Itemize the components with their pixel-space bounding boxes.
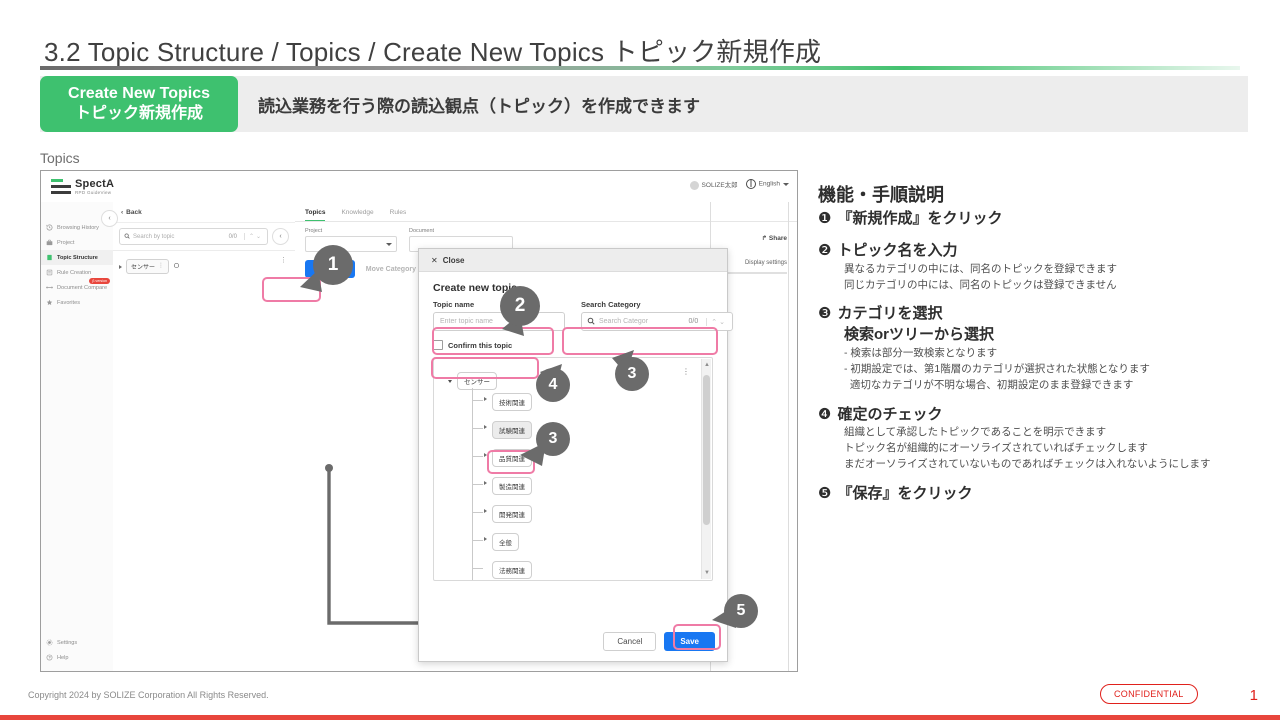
step-number: ❺ [818,485,831,503]
section-subtitle: 読込業務を行う際の読込観点（トピック）を作成できます [258,76,700,132]
category-tree-menu-icon[interactable]: ⋮ [682,370,690,375]
step-number: ❷ [818,242,831,260]
search-category-field-group: Search Category Search Categor 0/0 ⌃⌄ [581,300,733,331]
page-number: 1 [1250,687,1258,704]
topic-name-field-group: Topic name Enter topic name [433,300,565,331]
title-divider [40,66,1240,70]
instructions-heading: 機能・手順説明 [818,182,1258,208]
step-heading: カテゴリを選択 [837,305,942,324]
category-node-6[interactable]: 法務関連 [492,561,532,579]
close-icon: ✕ [431,256,438,265]
page-title: 3.2 Topic Structure / Topics / Create Ne… [44,32,821,69]
callout-3b: 3 [536,422,570,456]
screenshot-caption: Topics [40,150,80,166]
callout-2: 2 [500,286,540,326]
section-badge-line2: トピック新規作成 [75,104,203,124]
confidential-badge: CONFIDENTIAL [1100,684,1198,704]
chevron-down-icon[interactable] [448,380,452,383]
category-node-4[interactable]: 開発関連 [492,505,532,523]
step-heading: トピック名を入力 [837,242,957,261]
section-badge: Create New Topics トピック新規作成 [40,76,238,132]
section-badge-line1: Create New Topics [68,84,210,104]
chevron-right-icon[interactable] [484,397,487,401]
chevron-right-icon[interactable] [484,453,487,457]
topic-name-input[interactable]: Enter topic name [433,312,565,331]
step-4-note-1: 組織として承認したトピックであることを明示できます [844,425,1258,440]
copyright-text: Copyright 2024 by SOLIZE Corporation All… [28,690,269,700]
topic-name-placeholder: Enter topic name [440,318,493,325]
step-3-note-3: 適切なカテゴリが不明な場合、初期設定のまま登録できます [844,378,1258,393]
confirm-topic-label: Confirm this topic [448,341,512,350]
step-number: ❶ [818,210,831,228]
search-category-placeholder: Search Categor [599,318,648,325]
modal-title: Create new topic [419,272,727,300]
confirm-topic-checkbox[interactable] [433,340,443,350]
cancel-button[interactable]: Cancel [603,632,656,651]
chevron-right-icon[interactable] [484,537,487,541]
category-node-root[interactable]: センサー [457,372,497,390]
chevron-right-icon[interactable] [484,481,487,485]
search-category-label: Search Category [581,300,733,309]
callout-3a: 3 [615,357,649,391]
callout-5: 5 [724,594,758,628]
instruction-step-4: ❹ 確定のチェック [818,406,1258,425]
scroll-up-icon[interactable]: ▲ [704,362,710,368]
tree-branch [472,400,483,401]
modal-fields-row: Topic name Enter topic name Search Categ… [419,300,727,331]
step-heading-2: 検索orツリーから選択 [844,326,994,345]
step-heading: 確定のチェック [837,406,942,425]
callout-1: 1 [313,245,353,285]
tree-branch [472,484,483,485]
chevron-right-icon[interactable] [484,425,487,429]
scroll-down-icon[interactable]: ▼ [704,570,710,576]
topic-name-label: Topic name [433,300,565,309]
step-3-note-2: - 初期設定では、第1階層のカテゴリが選択された状態となります [844,362,1258,377]
step-4-note-2: トピック名が組織的にオーソライズされていればチェックします [844,441,1258,456]
modal-close-label: Close [443,256,465,265]
tree-branch [472,512,483,513]
category-node-1[interactable]: 試験関連 [492,421,532,439]
instruction-step-5: ❺ 『保存』をクリック [818,485,1258,504]
step-3-note-1: - 検索は部分一致検索となります [844,346,1258,361]
tree-branch [472,428,483,429]
instruction-step-2: ❷ トピック名を入力 [818,242,1258,261]
category-node-5[interactable]: 全般 [492,533,519,551]
category-node-2[interactable]: 品質関連 [492,449,532,467]
callout-4: 4 [536,368,570,402]
modal-footer: Cancel Save [603,632,715,651]
category-tree: センサー ⋮ 技術関連 試験関連 品質関連 製造関連 開発関連 全般 法務関連 … [433,357,713,581]
chevron-right-icon[interactable] [484,509,487,513]
instruction-step-3-sub: 検索orツリーから選択 [844,326,1258,345]
search-category-count: 0/0 [689,318,699,325]
save-button[interactable]: Save [664,632,715,651]
category-node-3[interactable]: 製造関連 [492,477,532,495]
step-number: ❸ [818,305,831,323]
tree-branch [472,540,483,541]
step-2-note-1: 異なるカテゴリの中には、同名のトピックを登録できます [844,262,1258,277]
search-category-step-controls[interactable]: ⌃⌄ [706,318,727,326]
create-topic-modal: ✕ Close Create new topic Topic name Ente… [418,248,728,662]
modal-close-button[interactable]: ✕ Close [419,249,727,272]
category-tree-scrollbar[interactable]: ▲ ▼ [701,359,711,579]
footer-accent-bar [0,715,1280,720]
confirm-topic-checkbox-row[interactable]: Confirm this topic [419,331,727,350]
search-icon [587,317,595,327]
instruction-step-3: ❸ カテゴリを選択 [818,305,1258,324]
category-node-0[interactable]: 技術関連 [492,393,532,411]
search-category-input[interactable]: Search Categor 0/0 ⌃⌄ [581,312,733,331]
instruction-step-1: ❶ 『新規作成』をクリック [818,210,1258,229]
scrollbar-thumb[interactable] [703,375,710,525]
step-number: ❹ [818,406,831,424]
step-2-note-2: 同じカテゴリの中には、同名のトピックは登録できません [844,278,1258,293]
step-4-note-3: まだオーソライズされていないものであればチェックは入れないようにします [844,457,1258,472]
step-heading: 『保存』をクリック [837,485,972,504]
step-heading: 『新規作成』をクリック [837,210,1002,229]
tree-branch [472,456,483,457]
instructions-panel: 機能・手順説明 ❶ 『新規作成』をクリック ❷ トピック名を入力 異なるカテゴリ… [818,182,1258,504]
tree-branch [472,568,483,569]
